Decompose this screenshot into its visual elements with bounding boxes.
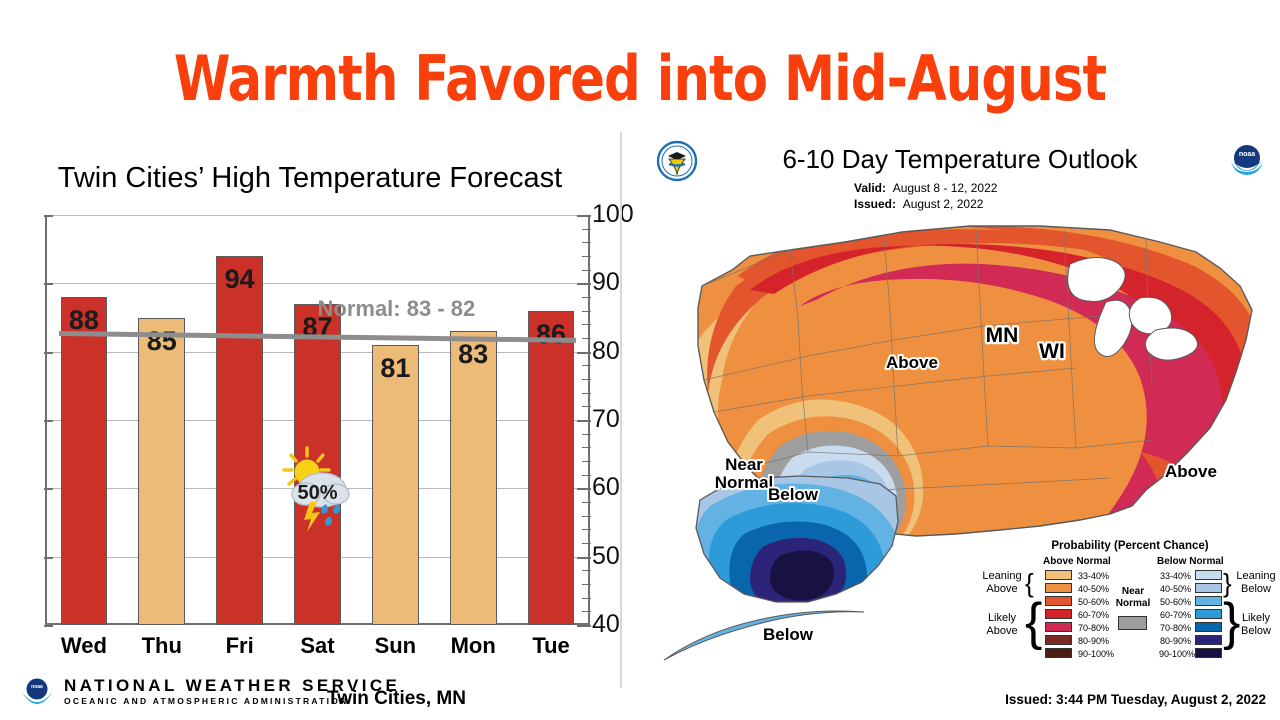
legend-text-below-33-40%: 33-40% (1159, 571, 1191, 581)
legend-swatch-below-40-50% (1195, 583, 1222, 593)
y-axis-tick-label: 90 (592, 270, 620, 295)
issued-timestamp: Issued: 3:44 PM Tuesday, August 2, 2022 (1005, 692, 1266, 707)
agency-name-line2: OCEANIC AND ATMOSPHERIC ADMINISTRATION (64, 696, 348, 706)
normal-line-label: Normal: 83 - 82 (318, 296, 476, 322)
map-label-wi: WI (1039, 340, 1065, 363)
brace-likely-above: { (1025, 592, 1042, 652)
legend-swatch-below-80-90% (1195, 635, 1222, 645)
bar-slot: 81 (372, 215, 419, 625)
y-axis-tick-label: 70 (592, 407, 620, 432)
legend-header-above: Above Normal (1043, 556, 1111, 567)
legend-group-likely-above: LikelyAbove (979, 612, 1025, 637)
map-label-above: Above (1165, 462, 1217, 481)
legend-swatch-above-60-70% (1045, 609, 1072, 619)
map-legend: Probability (Percent Chance) Above Norma… (985, 540, 1275, 668)
y-axis-tick-label: 50 (592, 544, 620, 569)
bar-slot: 88 (61, 215, 108, 625)
temperature-forecast-chart: Twin Cities’ High Temperature Forecast 8… (0, 150, 640, 680)
x-axis-label-tue: Tue (512, 633, 590, 659)
forecast-bar-tue (528, 311, 575, 625)
legend-text-above-50-60%: 50-60% (1078, 597, 1109, 607)
x-axis-label-thu: Thu (123, 633, 201, 659)
y-axis-tick-label: 80 (592, 339, 620, 364)
legend-text-above-90-100%: 90-100% (1078, 649, 1114, 659)
legend-header-below: Below Normal (1157, 556, 1224, 567)
bar-slot: 85 (138, 215, 185, 625)
x-axis-label-sat: Sat (279, 633, 357, 659)
y-axis-tick-label: 100 (592, 202, 634, 227)
map-label-near: Near (725, 455, 763, 474)
bar-value-label: 81 (372, 353, 419, 384)
chart-plot-area: 88859487818386 Normal: 83 - 82 50% (45, 215, 590, 625)
map-label-below: Below (768, 485, 819, 504)
y-axis-tick-label: 60 (592, 475, 620, 500)
bar-series: 88859487818386 (45, 215, 590, 625)
legend-text-above-33-40%: 33-40% (1078, 571, 1109, 581)
map-title: 6-10 Day Temperature Outlook (640, 144, 1280, 175)
precip-probability-label: 50% (280, 482, 356, 505)
sun-cloud-thunderstorm-icon: 50% (280, 446, 356, 532)
legend-swatch-above-33-40% (1045, 570, 1072, 580)
legend-swatch-above-90-100% (1045, 648, 1072, 658)
legend-swatch-above-70-80% (1045, 622, 1072, 632)
legend-text-below-40-50%: 40-50% (1159, 584, 1191, 594)
svg-text:noaa: noaa (31, 684, 43, 690)
legend-swatch-below-33-40% (1195, 570, 1222, 580)
x-axis-label-fri: Fri (201, 633, 279, 659)
legend-text-below-60-70%: 60-70% (1159, 610, 1191, 620)
legend-swatch-below-90-100% (1195, 648, 1222, 658)
panel-divider (620, 132, 622, 688)
map-label-below: Below (763, 625, 814, 644)
y-axis-labels: 405060708090100 (592, 215, 642, 625)
legend-text-below-70-80%: 70-80% (1159, 623, 1191, 633)
legend-near-normal-label: NearNormal (1111, 586, 1155, 609)
bar-value-label: 83 (450, 339, 497, 370)
map-label-mn: MN (986, 324, 1019, 347)
y-tick-major (577, 625, 591, 627)
legend-text-below-50-60%: 50-60% (1159, 597, 1191, 607)
legend-text-above-60-70%: 60-70% (1078, 610, 1109, 620)
bar-slot: 86 (528, 215, 575, 625)
legend-swatch-below-60-70% (1195, 609, 1222, 619)
forecast-bar-wed (61, 297, 108, 625)
noaa-logo-icon: noaa (1226, 140, 1268, 182)
map-label-above: Above (886, 353, 938, 372)
x-axis-label-mon: Mon (434, 633, 512, 659)
map-label-normal: Normal (715, 473, 774, 492)
noaa-logo-icon: noaa (18, 674, 56, 712)
office-name: Twin Cities, MN (327, 688, 466, 710)
bar-value-label: 94 (216, 264, 263, 295)
y-tick-left (44, 625, 53, 627)
near-normal-word-1: Near (1122, 586, 1144, 597)
legend-near-normal-swatch (1118, 616, 1147, 630)
bar-slot: 94 (216, 215, 263, 625)
chart-title: Twin Cities’ High Temperature Forecast (0, 162, 620, 195)
legend-text-below-80-90%: 80-90% (1159, 636, 1191, 646)
x-axis-label-sun: Sun (356, 633, 434, 659)
x-axis-label-wed: Wed (45, 633, 123, 659)
bar-slot: 87 (294, 215, 341, 625)
slide-root: Warmth Favored into Mid-August Twin Citi… (0, 0, 1280, 720)
bar-slot: 83 (450, 215, 497, 625)
legend-swatch-above-40-50% (1045, 583, 1072, 593)
near-normal-word-2: Normal (1116, 598, 1150, 609)
legend-swatch-above-80-90% (1045, 635, 1072, 645)
temperature-outlook-map: 6-10 Day Temperature Outlook noaa Valid:… (640, 132, 1280, 692)
legend-group-likely-below: LikelyBelow (1233, 612, 1279, 637)
forecast-bar-mon (450, 331, 497, 625)
y-axis-tick-label: 40 (592, 612, 620, 637)
legend-text-above-40-50%: 40-50% (1078, 584, 1109, 594)
page-title: Warmth Favored into Mid-August (51, 42, 1229, 115)
svg-text:noaa: noaa (1239, 151, 1255, 158)
forecast-bar-thu (138, 318, 185, 626)
legend-group-leaning-above: LeaningAbove (979, 570, 1025, 595)
legend-text-above-70-80%: 70-80% (1078, 623, 1109, 633)
forecast-bar-fri (216, 256, 263, 625)
legend-swatch-above-50-60% (1045, 596, 1072, 606)
bar-value-label: 86 (528, 319, 575, 350)
legend-title: Probability (Percent Chance) (985, 540, 1275, 552)
legend-text-above-80-90%: 80-90% (1078, 636, 1109, 646)
x-axis-labels: WedThuFriSatSunMonTue (45, 633, 590, 667)
legend-text-below-90-100%: 90-100% (1159, 649, 1191, 659)
forecast-bar-sun (372, 345, 419, 625)
bar-value-label: 85 (138, 326, 185, 357)
legend-swatch-below-70-80% (1195, 622, 1222, 632)
legend-swatch-below-50-60% (1195, 596, 1222, 606)
